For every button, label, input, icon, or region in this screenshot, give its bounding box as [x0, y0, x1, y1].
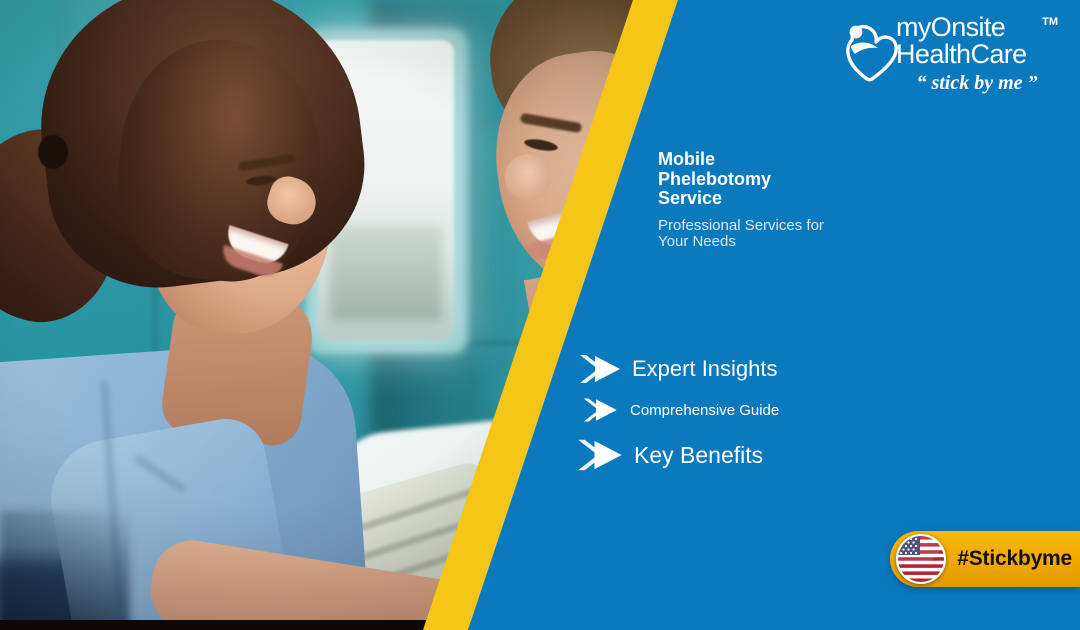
list-item-label: Comprehensive Guide: [630, 402, 779, 419]
headline-line2: Phelebotomy: [658, 169, 771, 189]
list-item[interactable]: Comprehensive Guide: [582, 396, 998, 424]
double-chevron-right-icon: [576, 436, 626, 474]
us-flag-icon: [896, 534, 946, 584]
brand-logo[interactable]: myOnsite HealthCare TM “ stick by me ”: [842, 14, 1052, 110]
double-chevron-right-icon: [578, 352, 624, 386]
list-item[interactable]: Expert Insights: [578, 352, 998, 386]
headline-line3: Service: [658, 188, 722, 208]
list-item-label: Key Benefits: [634, 442, 763, 469]
brand-tagline: “ stick by me ”: [902, 72, 1052, 95]
headline-block: Mobile Phelebotomy Service Professional …: [658, 150, 838, 251]
page-title: Mobile Phelebotomy Service: [658, 150, 838, 209]
photo-corner-shadow: [0, 510, 130, 630]
feature-list: Expert Insights Comprehensive Guide Key …: [578, 352, 998, 474]
page-subtitle: Professional Services for Your Needs: [658, 218, 838, 251]
status-badge[interactable]: #Stickbyme: [890, 531, 1080, 587]
hashtag-label: #Stickbyme: [957, 547, 1080, 571]
list-item-label: Expert Insights: [632, 356, 778, 382]
double-chevron-right-icon: [582, 396, 620, 424]
heart-person-icon: [842, 20, 900, 82]
list-item[interactable]: Key Benefits: [576, 436, 998, 474]
brand-name-line2: HealthCare: [896, 41, 1056, 68]
trademark-mark: TM: [1042, 16, 1058, 28]
brand-name-line1: myOnsite: [896, 14, 1056, 41]
headline-line1: Mobile: [658, 149, 715, 169]
brand-wordmark: myOnsite HealthCare TM: [896, 14, 1056, 68]
marketing-banner: myOnsite HealthCare TM “ stick by me ” M…: [0, 0, 1080, 630]
